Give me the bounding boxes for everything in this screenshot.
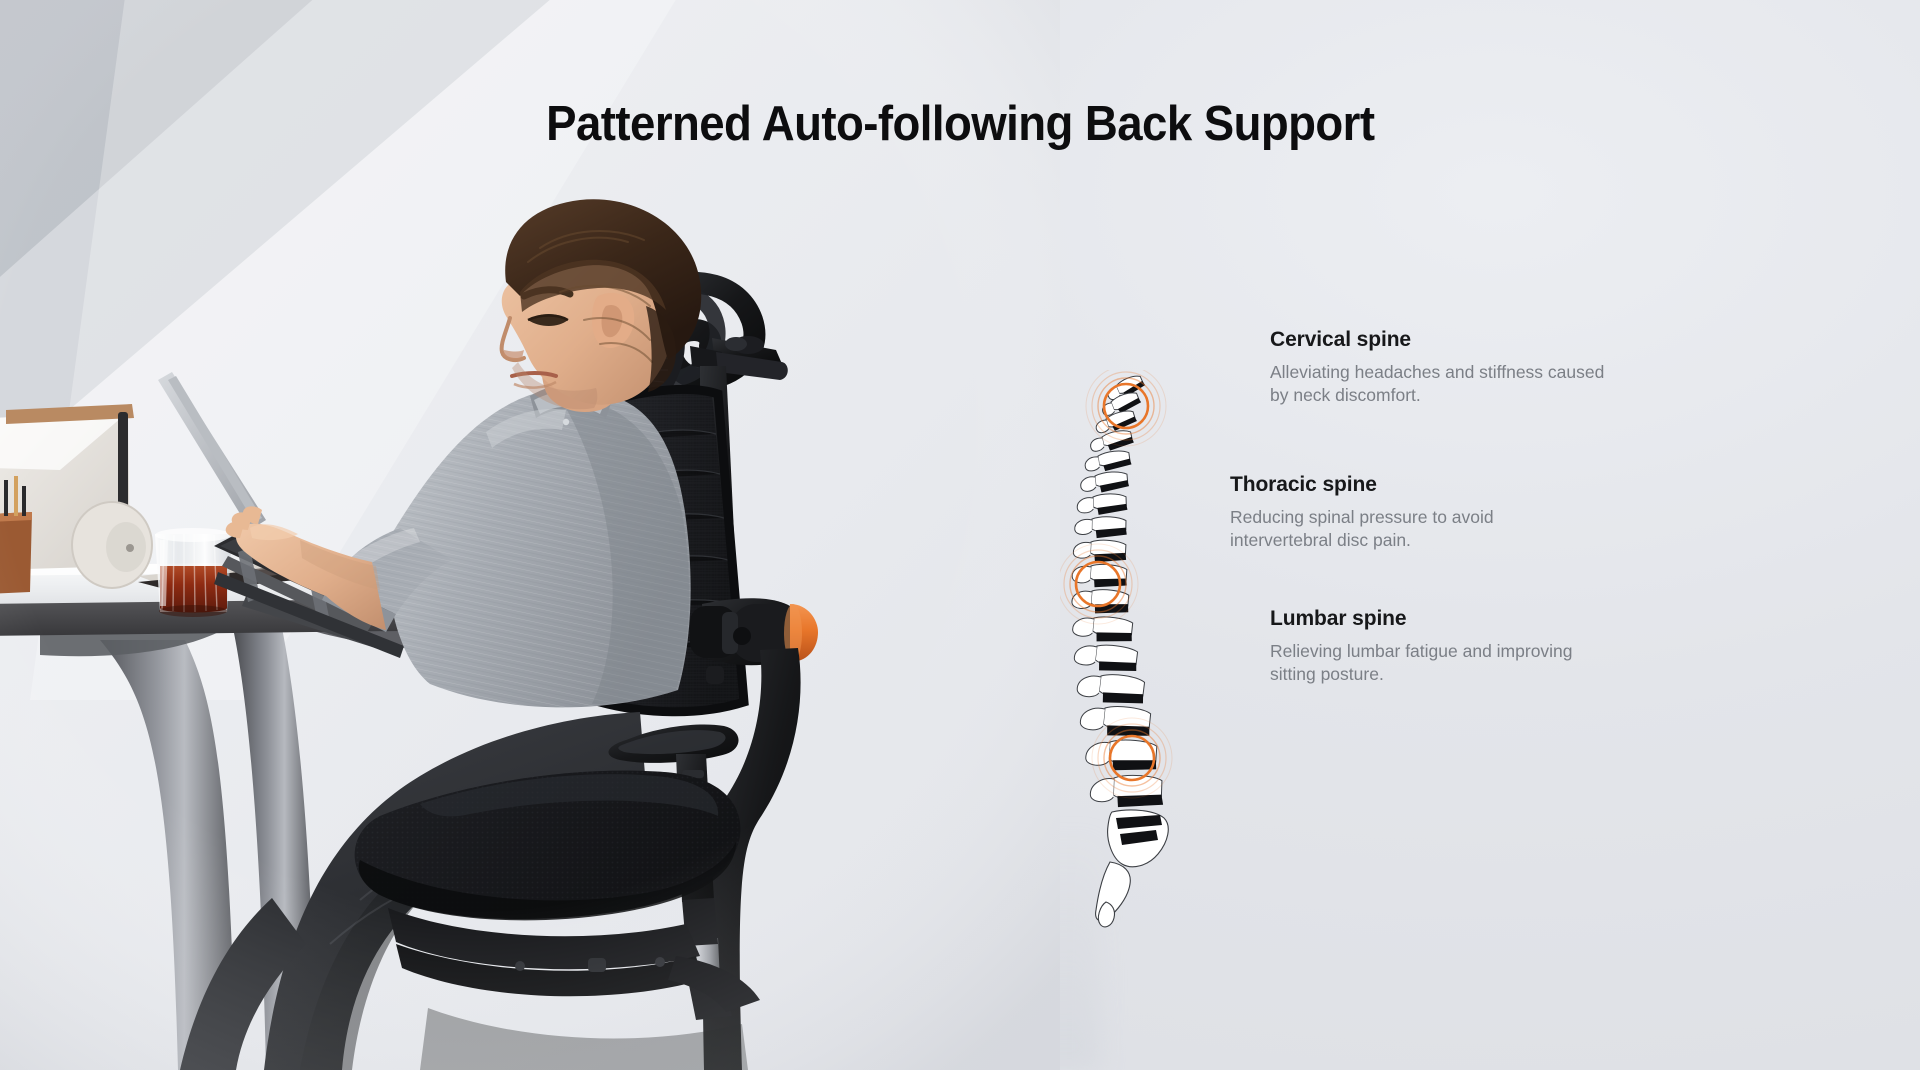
feature-heading-lumbar: Lumbar spine [1270, 607, 1600, 631]
spine-illustration [1060, 370, 1250, 940]
sacrum [1108, 810, 1169, 867]
feature-heading-thoracic: Thoracic spine [1230, 473, 1530, 497]
feature-description-lumbar: Relieving lumbar fatigue and improving s… [1270, 640, 1600, 687]
page-title-text: Patterned Auto-following Back Support [546, 96, 1374, 152]
page-title: Patterned Auto-following Back Support [0, 96, 1920, 152]
feature-heading-cervical: Cervical spine [1270, 328, 1618, 352]
spine-info-panel: Cervical spine Alleviating headaches and… [1060, 370, 1780, 950]
feature-item-lumbar: Lumbar spine Relieving lumbar fatigue an… [1270, 607, 1600, 687]
feature-description-cervical: Alleviating headaches and stiffness caus… [1270, 361, 1618, 408]
feature-description-thoracic: Reducing spinal pressure to avoid interv… [1230, 506, 1530, 553]
coccyx [1096, 862, 1131, 927]
product-photo [0, 0, 1060, 1070]
spine-vertebrae [1071, 373, 1168, 927]
feature-item-cervical: Cervical spine Alleviating headaches and… [1270, 328, 1618, 408]
feature-item-thoracic: Thoracic spine Reducing spinal pressure … [1270, 473, 1530, 553]
